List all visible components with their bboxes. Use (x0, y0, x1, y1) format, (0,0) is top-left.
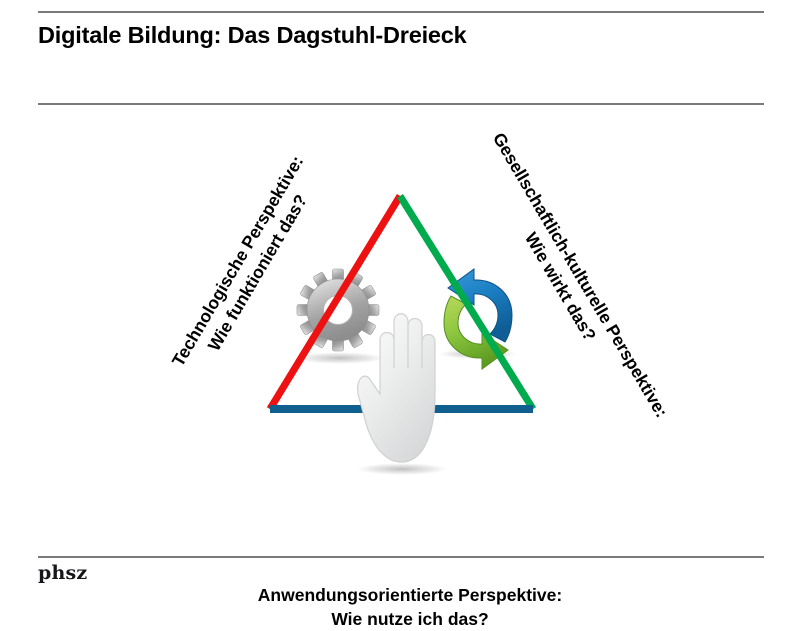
header-rule-top (38, 11, 764, 13)
footer-rule (38, 556, 764, 558)
footer-logo: phsz (38, 562, 87, 584)
label-application-perspective: Anwendungsorientierte Perspektive: Wie n… (150, 584, 670, 631)
label-application-line1: Anwendungsorientierte Perspektive: (150, 584, 670, 608)
hand-shape (358, 314, 435, 462)
label-application-line2: Wie nutze ich das? (150, 608, 670, 631)
open-hand-icon (356, 314, 448, 475)
page-title: Digitale Bildung: Das Dagstuhl-Dreieck (38, 22, 738, 49)
slide-canvas: Digitale Bildung: Das Dagstuhl-Dreieck (0, 0, 800, 600)
dagstuhl-triangle-diagram: Technologische Perspektive: Wie funktion… (0, 104, 800, 556)
